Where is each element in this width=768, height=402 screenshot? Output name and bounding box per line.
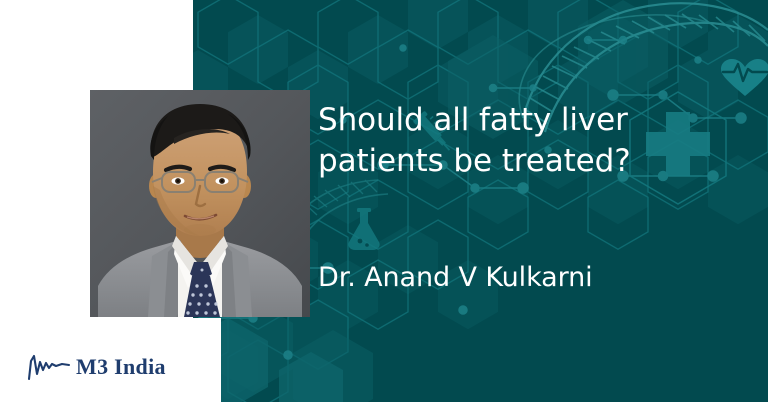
speaker-portrait-photo	[90, 90, 310, 317]
white-footer-notch	[193, 318, 221, 402]
portrait-illustration	[90, 90, 310, 317]
title-block: Should all fatty liver patients be treat…	[318, 100, 718, 182]
speaker-name: Dr. Anand V Kulkarni	[318, 262, 593, 294]
presentation-slide: Should all fatty liver patients be treat…	[0, 0, 768, 402]
brand-name: M3 India	[76, 356, 166, 378]
page-title: Should all fatty liver patients be treat…	[318, 100, 718, 182]
brand-logo[interactable]: M3 India	[26, 352, 166, 382]
waveform-logo-icon	[26, 352, 72, 382]
